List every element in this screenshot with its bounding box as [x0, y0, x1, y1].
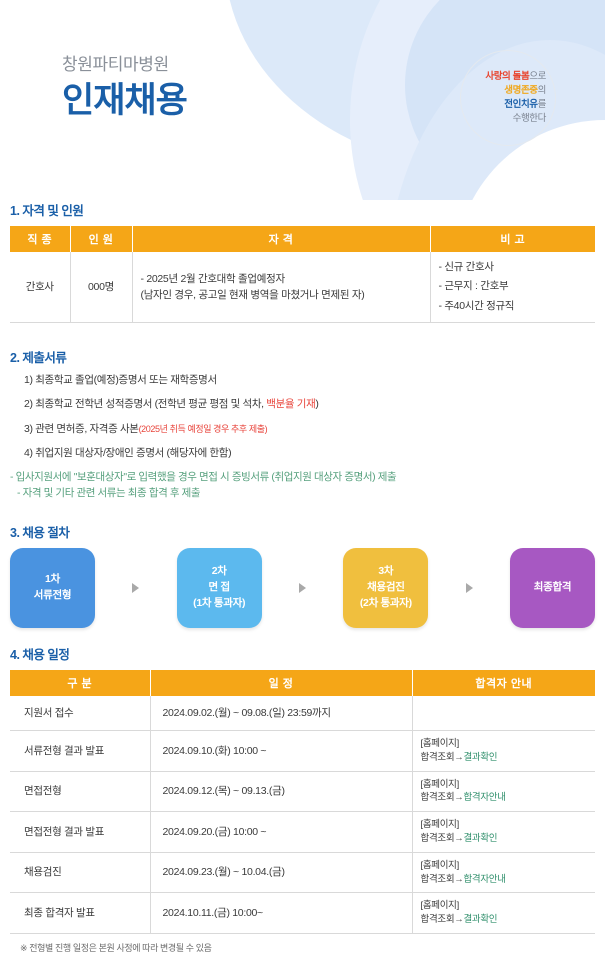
section3-title: 3. 채용 절차 [10, 522, 595, 541]
announcement-target: 결과확인 [463, 914, 497, 925]
cell-category: 지원서 접수 [10, 696, 150, 731]
table-row: 면접전형2024.09.12.(목) ~ 09.13.(금)[홈페이지]합격조회… [10, 771, 595, 812]
header-announcement: 합격자 안내 [412, 670, 595, 696]
table-row: 간호사 000명 - 2025년 2월 간호대학 졸업예정자 (남자인 경우, … [10, 252, 595, 323]
cell-job: 간호사 [10, 252, 70, 323]
announcement-source: [홈페이지] [421, 859, 588, 873]
header-qualification: 자 격 [132, 226, 430, 252]
remark-line-3: - 주40시간 정규직 [439, 297, 588, 316]
announcement-source: [홈페이지] [421, 737, 588, 751]
slogan-line-3: 전인치유를 [461, 98, 555, 112]
announcement-source: [홈페이지] [421, 899, 588, 913]
cell-date: 2024.10.11.(금) 10:00~ [150, 893, 412, 934]
cell-announcement: [홈페이지]합격조회→합격자안내 [412, 852, 595, 893]
cell-remarks: - 신규 간호사- 근무지 : 간호부- 주40시간 정규직 [430, 252, 595, 323]
table-row: 서류전형 결과 발표2024.09.10.(화) 10:00 ~[홈페이지]합격… [10, 731, 595, 772]
section-qualification: 1. 자격 및 인원 직 종 인 원 자 격 비 고 간호사 000명 - 20… [0, 200, 605, 323]
table-row: 최종 합격자 발표2024.10.11.(금) 10:00~[홈페이지]합격조회… [10, 893, 595, 934]
hero-text-block: 창원파티마병원 인재채용 [62, 55, 187, 123]
cell-date: 2024.09.12.(목) ~ 09.13.(금) [150, 771, 412, 812]
remark-line-2: - 근무지 : 간호부 [439, 277, 588, 296]
document-list: 1) 최종학교 졸업(예정)증명서 또는 재학증명서2) 최종학교 전학년 성적… [10, 373, 595, 461]
table-row: 면접전형 결과 발표2024.09.20.(금) 10:00 ~[홈페이지]합격… [10, 812, 595, 853]
process-flow: 1차서류전형2차면 접(1차 통과자)3차채용검진(2차 통과자)최종합격 [10, 548, 595, 628]
qualification-line-1: - 2025년 2월 간호대학 졸업예정자 [141, 271, 422, 287]
flow-arrow-icon [428, 583, 510, 593]
cell-date: 2024.09.02.(월) ~ 09.08.(일) 23:59까지 [150, 696, 412, 731]
document-item: 1) 최종학교 졸업(예정)증명서 또는 재학증명서 [24, 373, 595, 388]
hospital-name: 창원파티마병원 [62, 55, 187, 75]
document-item: 4) 취업지원 대상자/장애인 증명서 (해당자에 한함) [24, 446, 595, 461]
document-note-2: - 자격 및 기타 관련 서류는 최종 합격 후 제출 [10, 486, 595, 502]
document-item: 2) 최종학교 전학년 성적증명서 (전학년 평균 평점 및 석차, 백분율 기… [24, 397, 595, 412]
cell-announcement [412, 696, 595, 731]
slogan-particle: 의 [538, 85, 546, 96]
flow-arrow-icon [262, 583, 344, 593]
cell-category: 채용검진 [10, 852, 150, 893]
flow-step-label: 3차채용검진(2차 통과자) [360, 564, 412, 611]
slogan-line-2: 생명존중의 [461, 84, 555, 98]
header-date: 일 정 [150, 670, 412, 696]
hero-banner: 창원파티마병원 인재채용 사랑의 돌봄으로생명존중의전인치유를수행한다 [0, 0, 605, 200]
announcement-path: 합격조회→ [421, 752, 464, 763]
cell-category: 최종 합격자 발표 [10, 893, 150, 934]
header-count: 인 원 [70, 226, 132, 252]
highlight-text: 백분율 기재 [266, 398, 315, 410]
qualification-line-2: (남자인 경우, 공고일 현재 병역을 마쳤거나 면제된 자) [141, 287, 422, 303]
schedule-body: 지원서 접수2024.09.02.(월) ~ 09.08.(일) 23:59까지… [10, 696, 595, 934]
flow-step-label: 1차서류전형 [34, 572, 71, 604]
header-remarks: 비 고 [430, 226, 595, 252]
cell-category: 면접전형 결과 발표 [10, 812, 150, 853]
table-row: 지원서 접수2024.09.02.(월) ~ 09.08.(일) 23:59까지 [10, 696, 595, 731]
section1-title: 1. 자격 및 인원 [10, 200, 595, 219]
flow-step-label: 2차면 접(1차 통과자) [193, 564, 245, 611]
announcement-path: 합격조회→ [421, 874, 464, 885]
cell-announcement: [홈페이지]합격조회→합격자안내 [412, 771, 595, 812]
document-item: 3) 관련 면허증, 자격증 사본(2025년 취득 예정일 경우 추후 제출) [24, 422, 595, 437]
flow-step-3: 3차채용검진(2차 통과자) [343, 548, 428, 628]
slogan-particle: 으로 [529, 71, 546, 82]
announcement-path: 합격조회→ [421, 833, 464, 844]
header-job: 직 종 [10, 226, 70, 252]
flow-step-2: 2차면 접(1차 통과자) [177, 548, 262, 628]
announcement-target: 결과확인 [463, 752, 497, 763]
cell-qualification: - 2025년 2월 간호대학 졸업예정자 (남자인 경우, 공고일 현재 병역… [132, 252, 430, 323]
slogan-keyword: 전인치유 [504, 99, 537, 110]
flow-step-4: 최종합격 [510, 548, 595, 628]
flow-step-1: 1차서류전형 [10, 548, 95, 628]
cell-category: 서류전형 결과 발표 [10, 731, 150, 772]
slogan-line-4: 수행한다 [461, 112, 555, 126]
section-process: 3. 채용 절차 1차서류전형2차면 접(1차 통과자)3차채용검진(2차 통과… [0, 522, 605, 628]
qualification-table: 직 종 인 원 자 격 비 고 간호사 000명 - 2025년 2월 간호대학… [10, 226, 595, 323]
announcement-target: 결과확인 [463, 833, 497, 844]
page-title: 인재채용 [62, 79, 187, 123]
cell-date: 2024.09.20.(금) 10:00 ~ [150, 812, 412, 853]
section4-title: 4. 채용 일정 [10, 644, 595, 663]
slogan-line-1: 사랑의 돌봄으로 [461, 70, 555, 84]
remark-line-1: - 신규 간호사 [439, 258, 588, 277]
table-header-row: 직 종 인 원 자 격 비 고 [10, 226, 595, 252]
cell-count: 000명 [70, 252, 132, 323]
section-schedule: 4. 채용 일정 구 분 일 정 합격자 안내 지원서 접수2024.09.02… [0, 644, 605, 954]
flow-step-label: 최종합격 [534, 580, 571, 596]
cell-announcement: [홈페이지]합격조회→결과확인 [412, 893, 595, 934]
table-row: 채용검진2024.09.23.(월) ~ 10.04.(금)[홈페이지]합격조회… [10, 852, 595, 893]
slogan-circle: 사랑의 돌봄으로생명존중의전인치유를수행한다 [460, 50, 556, 146]
small-note-text: (2025년 취득 예정일 경우 추후 제출) [139, 424, 268, 434]
slogan-particle: 를 [538, 99, 546, 110]
table-header-row: 구 분 일 정 합격자 안내 [10, 670, 595, 696]
cell-category: 면접전형 [10, 771, 150, 812]
section2-title: 2. 제출서류 [10, 347, 595, 366]
slogan-particle: 수행한다 [513, 113, 546, 124]
cell-date: 2024.09.23.(월) ~ 10.04.(금) [150, 852, 412, 893]
header-category: 구 분 [10, 670, 150, 696]
cell-announcement: [홈페이지]합격조회→결과확인 [412, 812, 595, 853]
announcement-target: 합격자안내 [463, 792, 505, 803]
announcement-path: 합격조회→ [421, 792, 464, 803]
triangle-right-icon [466, 583, 473, 593]
announcement-path: 합격조회→ [421, 914, 464, 925]
triangle-right-icon [299, 583, 306, 593]
triangle-right-icon [132, 583, 139, 593]
document-note-1: - 입사지원서에 "보훈대상자"로 입력했을 경우 면접 시 증빙서류 (취업지… [10, 470, 595, 486]
announcement-source: [홈페이지] [421, 818, 588, 832]
section-documents: 2. 제출서류 1) 최종학교 졸업(예정)증명서 또는 재학증명서2) 최종학… [0, 347, 605, 501]
cell-date: 2024.09.10.(화) 10:00 ~ [150, 731, 412, 772]
slogan-keyword: 생명존중 [504, 85, 537, 96]
slogan-keyword: 사랑의 돌봄 [485, 71, 529, 82]
flow-arrow-icon [95, 583, 177, 593]
announcement-target: 합격자안내 [463, 874, 505, 885]
cell-announcement: [홈페이지]합격조회→결과확인 [412, 731, 595, 772]
schedule-table: 구 분 일 정 합격자 안내 지원서 접수2024.09.02.(월) ~ 09… [10, 670, 595, 934]
schedule-footnote: ※ 전형별 진행 일정은 본원 사정에 따라 변경될 수 있음 [20, 941, 595, 954]
announcement-source: [홈페이지] [421, 778, 588, 792]
